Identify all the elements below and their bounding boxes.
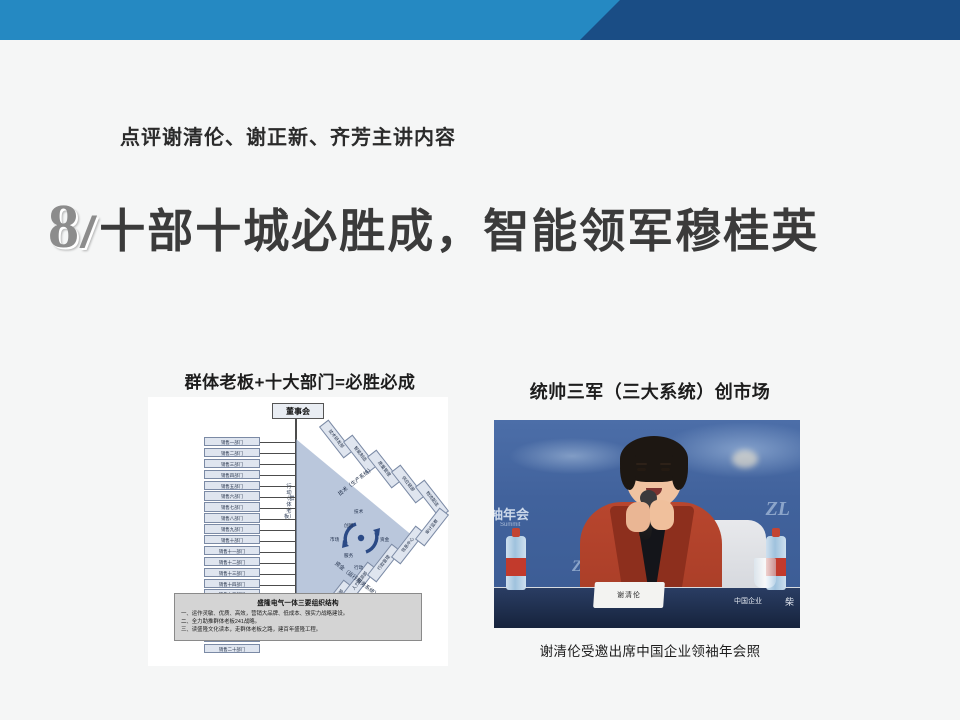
photo-eye-right	[661, 468, 670, 471]
strategy-footer-title: 盛隆电气一体三要组织结构	[181, 597, 415, 607]
department-box: 销售九部门	[204, 524, 260, 533]
drinking-glass	[754, 558, 776, 588]
department-box: 销售三部门	[204, 459, 260, 468]
photo-eyebrow-left	[636, 463, 647, 465]
photo-eyebrow-right	[660, 463, 671, 465]
conference-photo: 袖年会 Summit ZL ZL 谢清伦 中国企业 柴	[494, 420, 800, 628]
department-box: 销售十部门	[204, 535, 260, 544]
department-box: 销售十三部门	[204, 568, 260, 577]
photo-hand-left	[626, 502, 650, 532]
department-box: 销售十四部门	[204, 579, 260, 588]
dept-tick	[260, 563, 296, 564]
cycle-word: 创新	[344, 523, 353, 529]
department-box: 销售五部门	[204, 481, 260, 490]
strategy-footer-line: 三、读盛隆文化读本，走群体老板之路，建百年盛隆工程。	[181, 626, 415, 634]
photo-hand-right	[650, 500, 674, 530]
dept-tick	[260, 552, 296, 553]
table-text-right: 中国企业	[734, 596, 762, 606]
backdrop-text-left: 袖年会	[494, 504, 529, 523]
dept-tick	[260, 585, 296, 586]
cycle-word: 资金	[380, 537, 389, 543]
left-panel-title: 群体老板+十大部门=必胜必成	[140, 368, 460, 393]
photo-caption: 谢清伦受邀出席中国企业领袖年会照	[470, 640, 830, 660]
department-box: 销售十二部门	[204, 557, 260, 566]
photo-lens-flare	[732, 450, 758, 468]
bottom-arm-box: 审计监察	[415, 508, 449, 547]
dept-tick	[260, 442, 296, 443]
cycle-word: 行动	[354, 565, 363, 571]
name-placard: 谢清伦	[593, 582, 665, 608]
strategy-footer-box: 盛隆电气一体三要组织结构 一、运作灵敏、优质、高效，营销大品牌、低成本、强实力战…	[174, 593, 422, 641]
org-chart-image: 董事会 行动（群体老板） 销售一部门销售二部门销售三部门销售四部门销售五部门销售…	[148, 397, 448, 666]
header-banner	[0, 0, 960, 40]
name-placard-text: 谢清伦	[617, 590, 641, 600]
strategy-footer-lines: 一、运作灵敏、优质、高效，营销大品牌、低成本、强实力战略建设。二、全力助推群体老…	[181, 610, 415, 635]
department-box: 销售二部门	[204, 448, 260, 457]
strategy-footer-line: 一、运作灵敏、优质、高效，营销大品牌、低成本、强实力战略建设。	[181, 610, 415, 618]
department-box: 销售二十部门	[204, 644, 260, 653]
headline-number: 8	[48, 196, 79, 258]
board-of-directors-box: 董事会	[272, 403, 324, 419]
department-box: 销售八部门	[204, 513, 260, 522]
slide-subtitle: 点评谢清伦、谢正新、齐芳主讲内容	[120, 121, 456, 150]
dept-tick	[260, 453, 296, 454]
cycle-word: 技术	[354, 509, 363, 515]
dept-tick	[260, 541, 296, 542]
org-chart-canvas: 董事会 行动（群体老板） 销售一部门销售二部门销售三部门销售四部门销售五部门销售…	[148, 397, 448, 666]
slide-headline: 8 / 十部十城必胜成，智能领军穆桂英	[48, 196, 819, 258]
dept-tick	[260, 486, 296, 487]
dept-tick	[260, 519, 296, 520]
dept-tick	[260, 574, 296, 575]
department-box: 销售四部门	[204, 470, 260, 479]
photo-hair-left	[620, 454, 636, 490]
table-text-far-right: 柴	[785, 595, 794, 608]
cycle-word: 服务	[344, 553, 353, 559]
department-box: 销售六部门	[204, 491, 260, 500]
photo-eye-left	[637, 468, 646, 471]
dept-tick	[260, 475, 296, 476]
headline-slash: /	[81, 211, 93, 255]
cycle-word: 市场	[330, 537, 339, 543]
department-box: 销售一部门	[204, 437, 260, 446]
dept-tick	[260, 464, 296, 465]
headline-text: 十部十城必胜成，智能领军穆桂英	[99, 208, 819, 254]
backdrop-logo-right: ZL	[766, 498, 790, 521]
bottle-label	[506, 558, 526, 576]
water-bottle-left	[506, 536, 526, 590]
dept-tick	[260, 497, 296, 498]
strategy-footer-line: 二、全力助推群体老板241战略。	[181, 618, 415, 626]
department-box: 销售十一部门	[204, 546, 260, 555]
right-panel-title: 统帅三军（三大系统）创市场	[490, 378, 810, 404]
spine-label: 行动（群体老板）	[284, 485, 294, 521]
dept-tick	[260, 508, 296, 509]
department-box: 销售七部门	[204, 502, 260, 511]
dept-tick	[260, 530, 296, 531]
